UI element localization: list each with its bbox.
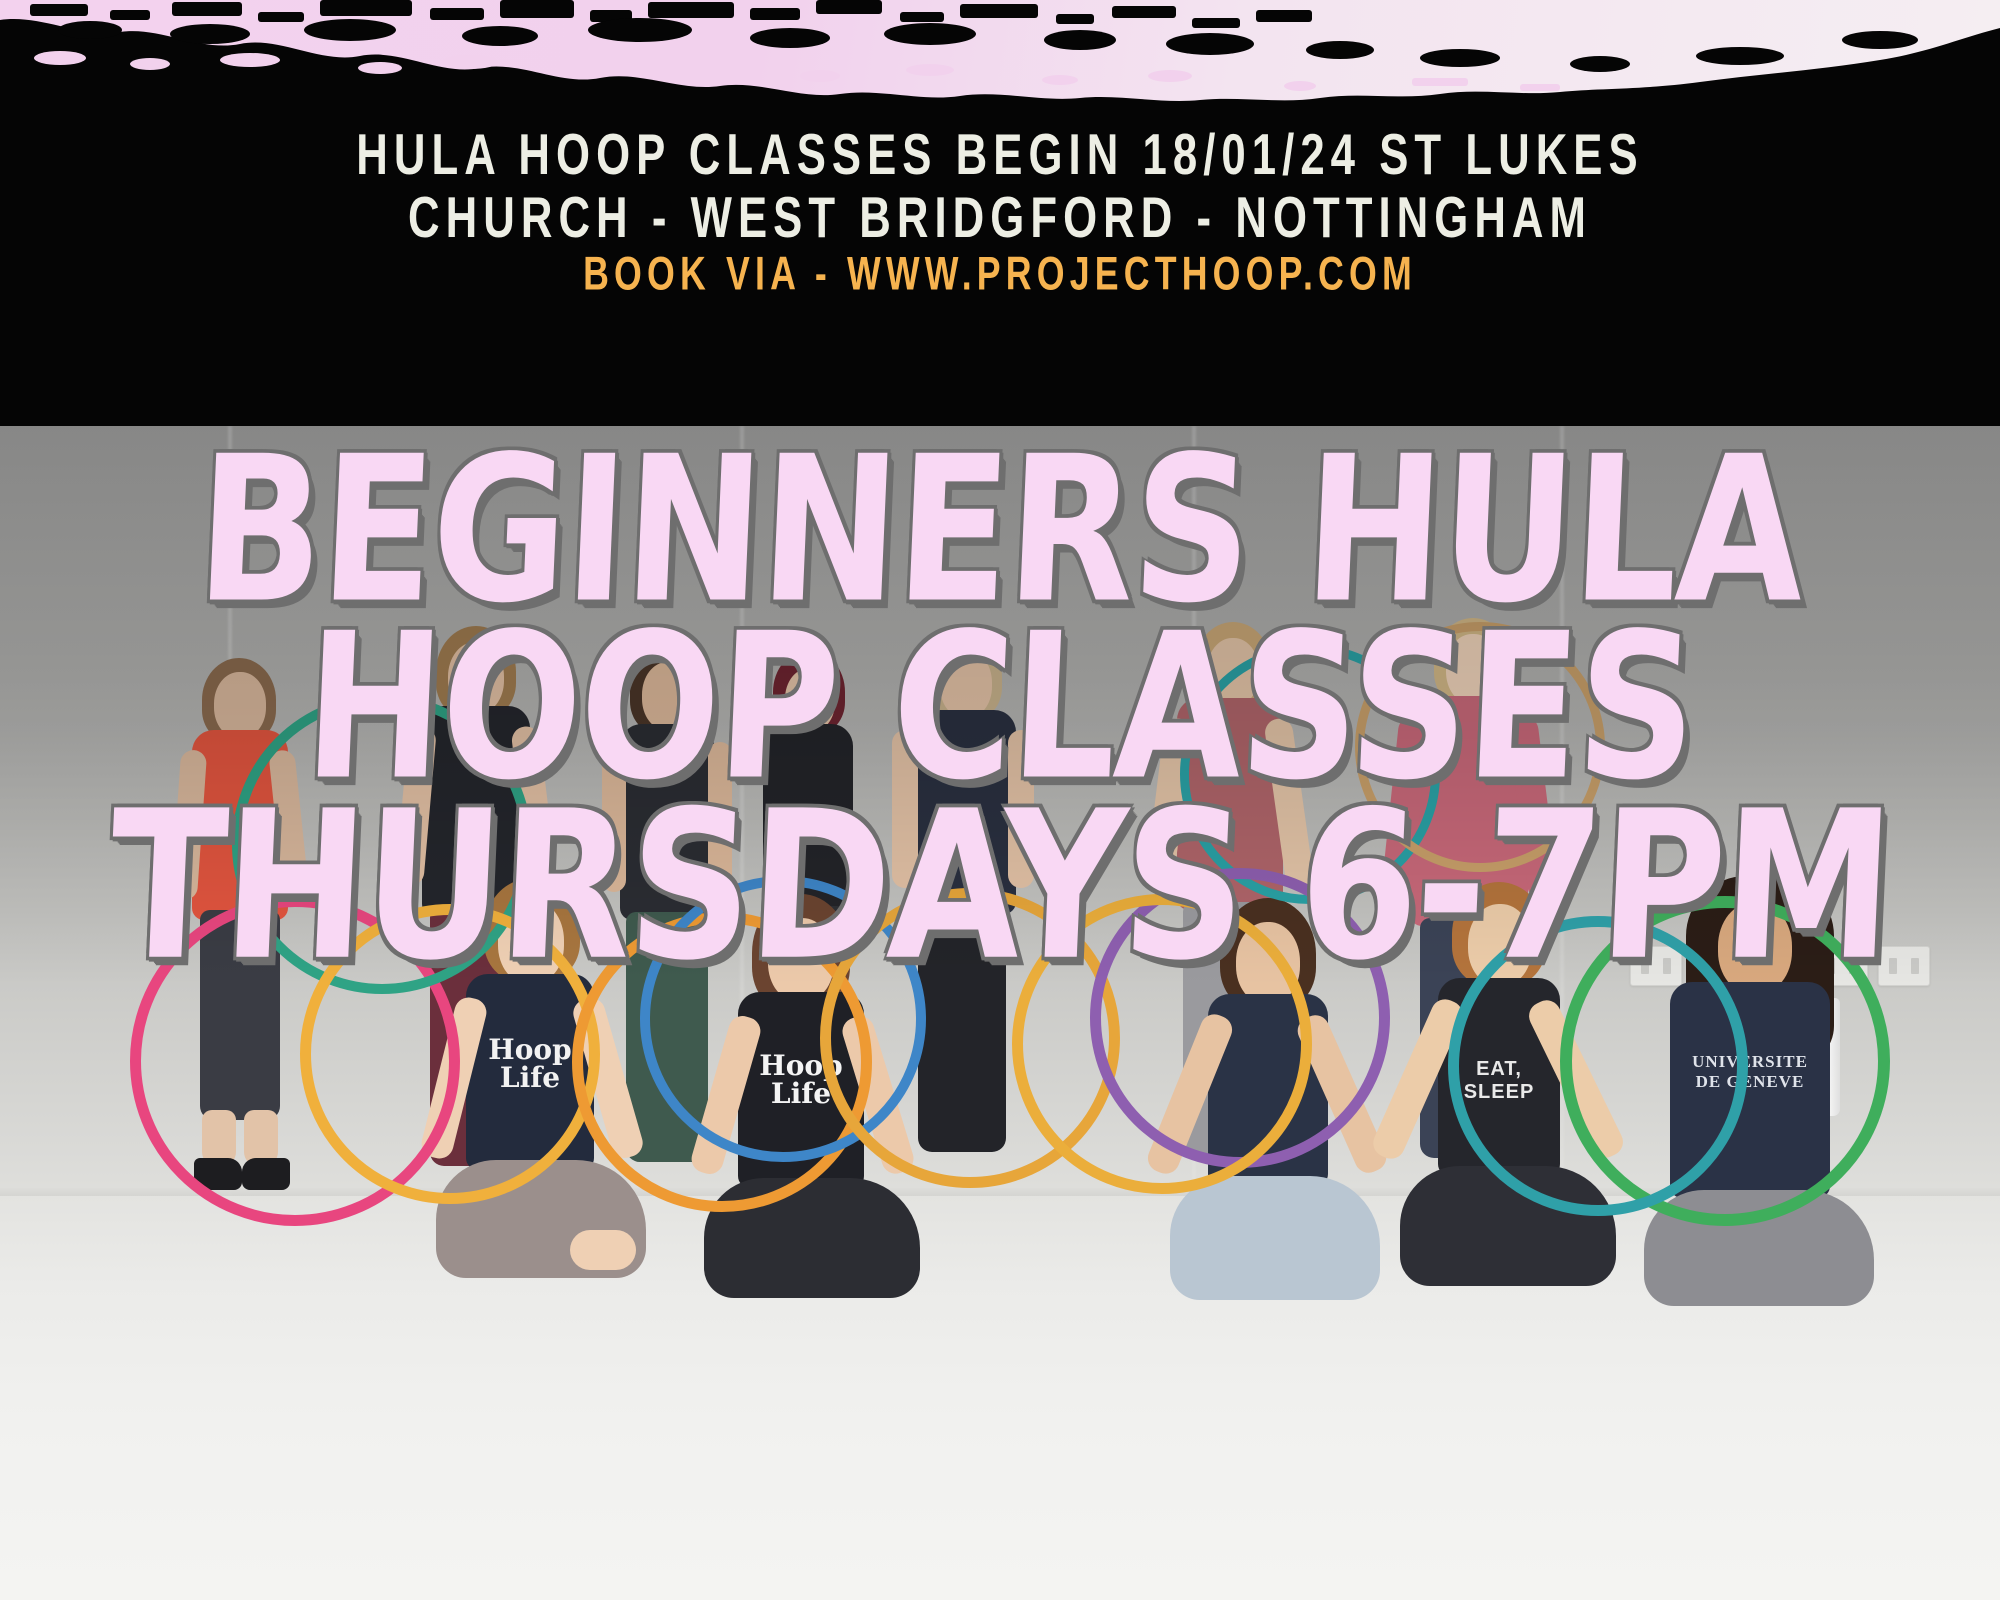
hoop-teal-right: [1448, 916, 1748, 1216]
grunge-torn-edge-icon: [0, 0, 2000, 130]
class-photo: Hoop Life Hoop Life: [0, 426, 2000, 1600]
hoop-yellow-left: [1012, 894, 1312, 1194]
hoop-wood: [1355, 622, 1605, 872]
hoop-yellow-orange: [300, 904, 600, 1204]
banner-line-1: HULA HOOP CLASSES BEGIN 18/01/24 ST LUKE…: [70, 124, 1930, 185]
banner-line-2: CHURCH - WEST BRIDGFORD - NOTTINGHAM: [70, 187, 1930, 248]
top-banner: HULA HOOP CLASSES BEGIN 18/01/24 ST LUKE…: [0, 0, 2000, 426]
booking-line[interactable]: BOOK VIA - WWW.PROJECTHOOP.COM: [60, 248, 1940, 302]
banner-headline: HULA HOOP CLASSES BEGIN 18/01/24 ST LUKE…: [0, 124, 2000, 237]
poster: Hoop Life Hoop Life: [0, 0, 2000, 1600]
